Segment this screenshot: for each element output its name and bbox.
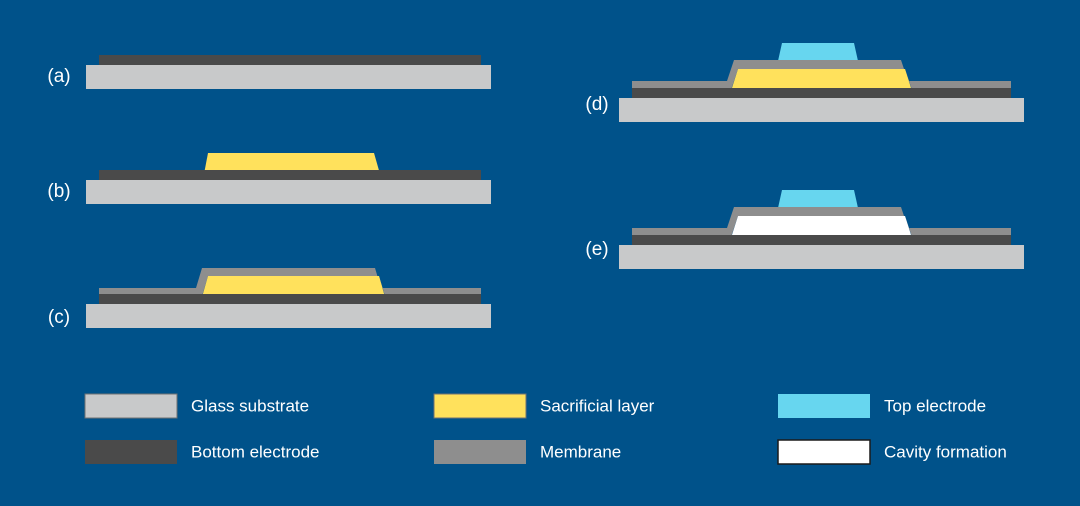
legend-item-bottom-electrode: Bottom electrode (85, 440, 320, 464)
panel-a-label: (a) (47, 66, 70, 87)
legend-swatch-glass-substrate (85, 394, 177, 418)
panel-e-top-electrode (778, 190, 858, 208)
legend-label-bottom-electrode: Bottom electrode (191, 442, 320, 461)
legend-swatch-bottom-electrode (85, 440, 177, 464)
panel-c-sacrificial-layer (202, 276, 385, 297)
legend-item-cavity-formation: Cavity formation (778, 440, 1007, 464)
legend-label-cavity-formation: Cavity formation (884, 442, 1007, 461)
legend-item-glass-substrate: Glass substrate (85, 394, 309, 418)
legend-swatch-membrane (434, 440, 526, 464)
panel-d-glass-substrate (619, 98, 1024, 122)
panel-b-label: (b) (47, 181, 70, 202)
legend-swatch-sacrificial-layer (434, 394, 526, 418)
legend-label-glass-substrate: Glass substrate (191, 396, 309, 415)
panel-d-label: (d) (585, 94, 608, 115)
legend-label-top-electrode: Top electrode (884, 396, 986, 415)
figure-root: (a) (b) (c) (d) (0, 0, 1080, 506)
legend-item-sacrificial-layer: Sacrificial layer (434, 394, 655, 418)
legend-label-membrane: Membrane (540, 442, 621, 461)
panel-e-glass-substrate (619, 245, 1024, 269)
panel-a-glass-substrate (86, 65, 491, 89)
legend-label-sacrificial-layer: Sacrificial layer (540, 396, 655, 415)
legend-swatch-cavity-formation (778, 440, 870, 464)
panel-e-label: (e) (585, 239, 608, 260)
panel-b-glass-substrate (86, 180, 491, 204)
panel-a: (a) (47, 55, 491, 89)
process-diagram: (a) (b) (c) (d) (0, 0, 1080, 506)
panel-d-top-electrode (778, 43, 858, 61)
panel-d-sacrificial-layer (731, 69, 912, 91)
panel-c-glass-substrate (86, 304, 491, 328)
panel-e-cavity-formation (731, 216, 912, 238)
panel-c-label: (c) (48, 307, 70, 328)
legend-swatch-top-electrode (778, 394, 870, 418)
